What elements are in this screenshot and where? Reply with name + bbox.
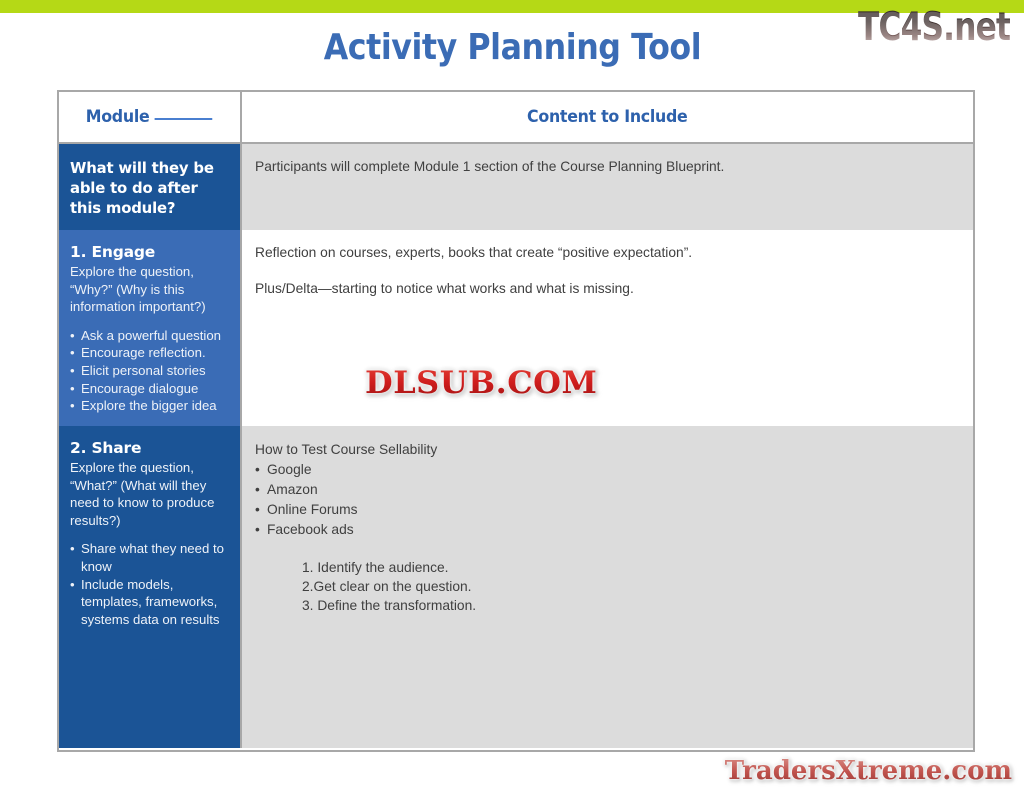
list-item: Encourage dialogue: [70, 380, 229, 398]
row-objective-right-cell: Participants will complete Module 1 sect…: [242, 144, 973, 230]
list-item: Online Forums: [255, 500, 959, 520]
row-share-step-list: 1. Identify the audience. 2.Get clear on…: [255, 558, 959, 615]
list-item: Ask a powerful question: [70, 327, 229, 345]
header-cell-content: Content to Include: [242, 92, 973, 142]
header-content-label: Content to Include: [527, 107, 687, 127]
row-share-title: 2. Share: [70, 439, 229, 458]
row-engage-subtitle: Explore the question, “Why?” (Why is thi…: [70, 263, 229, 316]
row-share-right-cell: How to Test Course Sellability Google Am…: [242, 426, 973, 748]
row-share-bullet-list: Google Amazon Online Forums Facebook ads: [255, 460, 959, 540]
row-share-heading: How to Test Course Sellability: [255, 440, 959, 460]
table-row: 2. Share Explore the question, “What?” (…: [59, 426, 973, 748]
header-module-label: Module: [86, 107, 150, 127]
row-objective-left-cell: What will they be able to do after this …: [59, 144, 242, 230]
row-engage-paragraph-2: Plus/Delta—starting to notice what works…: [255, 280, 959, 298]
module-blank-line: [155, 118, 213, 120]
list-item: Encourage reflection.: [70, 344, 229, 362]
list-item: 2.Get clear on the question.: [302, 577, 959, 596]
row-share-left-cell: 2. Share Explore the question, “What?” (…: [59, 426, 242, 748]
row-share-bullet-list: Share what they need to know Include mod…: [70, 540, 229, 628]
row-objective-title: What will they be able to do after this …: [70, 158, 223, 218]
row-share-subtitle: Explore the question, “What?” (What will…: [70, 459, 229, 529]
row-engage-right-cell: Reflection on courses, experts, books th…: [242, 230, 973, 426]
page-title-text: Activity Planning Tool: [323, 27, 700, 69]
list-item: 3. Define the transformation.: [302, 596, 959, 615]
watermark-tradersxtreme: TradersXtreme.com: [725, 757, 1012, 785]
row-objective-paragraph: Participants will complete Module 1 sect…: [255, 158, 959, 176]
row-engage-title: 1. Engage: [70, 243, 229, 262]
list-item: Amazon: [255, 480, 959, 500]
list-item: Explore the bigger idea: [70, 397, 229, 415]
list-item: 1. Identify the audience.: [302, 558, 959, 577]
header-module-label-wrap: Module: [86, 107, 213, 127]
row-engage-paragraph-1: Reflection on courses, experts, books th…: [255, 244, 959, 262]
list-item: Google: [255, 460, 959, 480]
list-item: Elicit personal stories: [70, 362, 229, 380]
watermark-dlsub: DLSUB.COM: [365, 368, 597, 399]
activity-planning-table: Module Content to Include What will they…: [57, 90, 975, 752]
list-item: Share what they need to know: [70, 540, 229, 575]
table-row: What will they be able to do after this …: [59, 144, 973, 230]
list-item: Facebook ads: [255, 520, 959, 540]
row-engage-left-cell: 1. Engage Explore the question, “Why?” (…: [59, 230, 242, 426]
list-item: Include models, templates, frameworks, s…: [70, 576, 229, 629]
row-engage-bullet-list: Ask a powerful question Encourage reflec…: [70, 327, 229, 415]
header-cell-module: Module: [59, 92, 242, 142]
page-title: Activity Planning Tool: [0, 27, 1024, 69]
table-header-row: Module Content to Include: [59, 92, 973, 144]
